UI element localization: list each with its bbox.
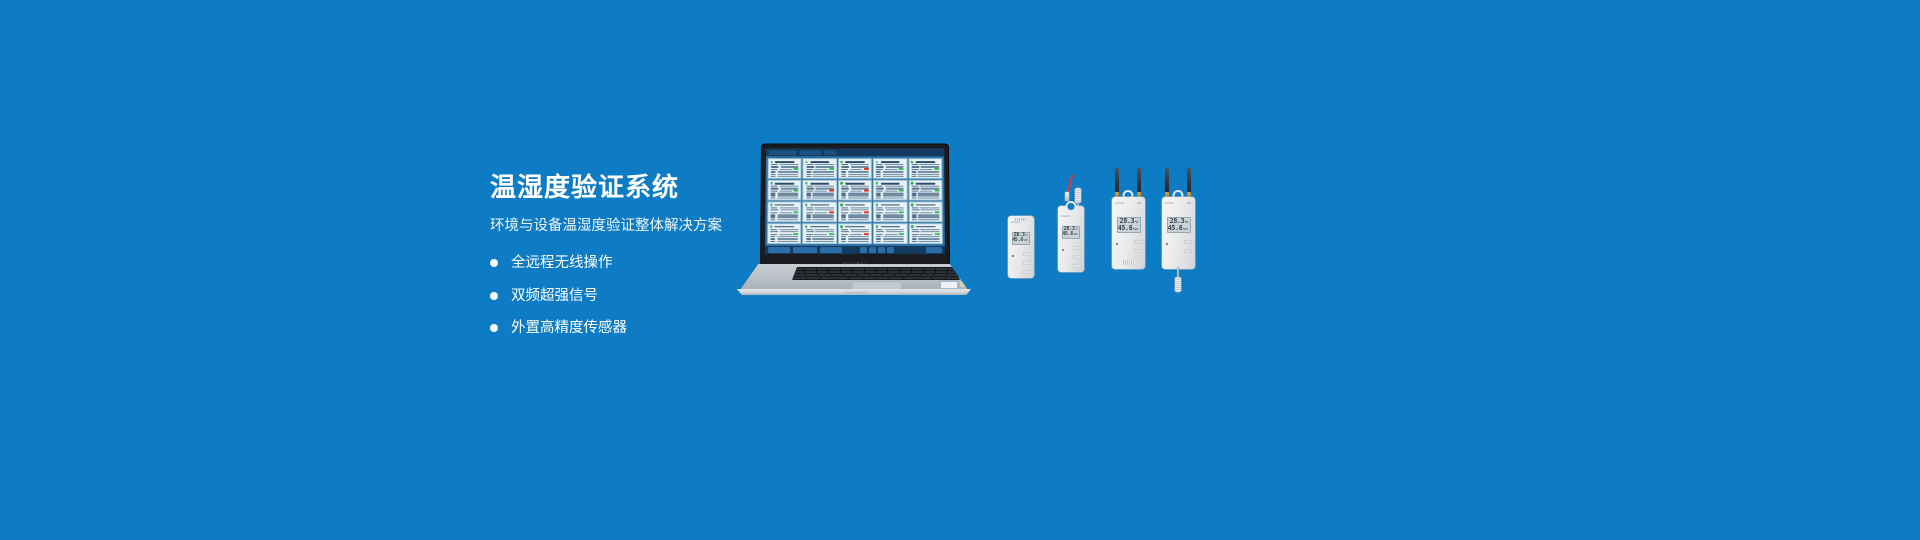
keyboard-key[interactable] bbox=[863, 277, 876, 280]
sensor-field-label bbox=[806, 166, 814, 167]
sensor-field-value bbox=[848, 193, 869, 194]
sensor-card-row bbox=[876, 238, 904, 239]
sensor-field-label bbox=[841, 193, 846, 194]
sensor-card-row bbox=[912, 207, 940, 208]
lcd-temperature-unit: ℃ bbox=[1185, 221, 1188, 224]
sensor-card-row bbox=[771, 229, 799, 230]
sensor-field-value bbox=[779, 229, 798, 230]
sensor-card-title bbox=[845, 161, 864, 163]
sensor-field-label bbox=[841, 219, 846, 220]
sensor-field-label bbox=[771, 186, 778, 187]
sensor-card-title bbox=[881, 226, 900, 228]
sensor-field-value bbox=[815, 231, 833, 232]
sensor-field-label bbox=[912, 234, 919, 235]
sensor-field-value bbox=[848, 219, 869, 220]
device-button-up[interactable] bbox=[1073, 246, 1081, 250]
sensor-card-row bbox=[771, 212, 799, 214]
device-logger-dual-antenna: ENGIN HB 28.3 ℃ 45.6 %RH bbox=[1112, 192, 1145, 269]
keyboard-key[interactable] bbox=[877, 277, 890, 280]
sensor-card-row bbox=[770, 236, 798, 237]
sensor-field-value bbox=[850, 207, 869, 208]
sensor-card-row bbox=[770, 233, 798, 235]
keyboard-key[interactable] bbox=[853, 271, 864, 274]
device-button-down[interactable] bbox=[1134, 249, 1142, 253]
sensor-field-label bbox=[876, 164, 883, 165]
sensor-field-label bbox=[806, 212, 813, 213]
sensor-card[interactable] bbox=[838, 223, 872, 244]
sensor-card-row bbox=[841, 193, 869, 194]
sensor-field-label bbox=[841, 173, 846, 174]
sensor-card-row bbox=[806, 229, 834, 230]
sensor-field-value bbox=[814, 169, 827, 170]
sensor-field-label bbox=[911, 176, 916, 177]
sensor-card-row bbox=[912, 231, 940, 232]
sensor-card-row bbox=[806, 238, 834, 239]
sensor-card-row bbox=[841, 236, 869, 237]
sensor-field-value bbox=[918, 219, 939, 220]
device-button-up[interactable] bbox=[1023, 252, 1031, 256]
sensor-field-value bbox=[777, 193, 798, 194]
sensor-card[interactable] bbox=[803, 201, 837, 222]
sensor-field-value bbox=[812, 215, 833, 216]
sensor-card-row bbox=[806, 241, 834, 242]
keyboard-key[interactable] bbox=[870, 274, 882, 277]
sensor-field-label bbox=[841, 171, 846, 172]
sensor-card-row bbox=[876, 193, 904, 194]
page-button[interactable] bbox=[860, 247, 867, 253]
sensor-ok-badge bbox=[793, 233, 798, 235]
sensor-card[interactable] bbox=[767, 223, 801, 244]
sensor-field-label bbox=[806, 188, 814, 189]
sensor-field-label bbox=[911, 169, 918, 170]
sensor-field-label bbox=[770, 241, 775, 242]
keyboard-key[interactable] bbox=[900, 268, 911, 271]
keyboard-key[interactable] bbox=[865, 268, 876, 271]
sensor-card-row bbox=[911, 193, 939, 194]
sensor-field-value bbox=[812, 236, 833, 237]
sensor-card[interactable] bbox=[803, 180, 837, 201]
sensor-field-value bbox=[918, 215, 939, 216]
sensor-card[interactable] bbox=[873, 158, 907, 179]
keyboard-key[interactable] bbox=[841, 271, 852, 274]
sensor-field-label bbox=[806, 190, 813, 191]
sensor-ok-badge bbox=[899, 212, 904, 214]
keyboard-key[interactable] bbox=[912, 268, 923, 271]
sensor-card[interactable] bbox=[873, 180, 907, 201]
sensor-card-row bbox=[911, 176, 939, 177]
device-button-up[interactable] bbox=[1184, 240, 1192, 244]
sensor-card-row bbox=[911, 166, 939, 167]
keyboard-key[interactable] bbox=[817, 268, 828, 271]
sensor-alarm-badge bbox=[829, 212, 834, 214]
sensor-field-label bbox=[771, 219, 776, 220]
sensor-field-value bbox=[883, 219, 904, 220]
sensor-card[interactable] bbox=[908, 201, 942, 222]
sensor-card-row bbox=[771, 193, 799, 194]
sensor-ok-badge bbox=[899, 233, 904, 235]
sensor-card-row bbox=[841, 168, 869, 170]
sensor-card-row bbox=[806, 231, 834, 232]
sensor-card-row bbox=[771, 166, 799, 167]
keyboard-key[interactable] bbox=[817, 271, 828, 274]
keyboard-key[interactable] bbox=[918, 277, 931, 280]
sensor-field-label bbox=[911, 190, 918, 191]
sensor-field-value bbox=[851, 209, 869, 210]
lcd-humidity-unit: %RH bbox=[1133, 228, 1138, 231]
antenna-left-icon bbox=[1165, 168, 1169, 194]
keyboard-key[interactable] bbox=[924, 271, 935, 274]
sensor-field-label bbox=[771, 176, 776, 177]
bullet-dot-icon bbox=[490, 292, 498, 300]
sensor-card-row bbox=[841, 215, 869, 216]
sensor-field-label bbox=[806, 197, 811, 198]
keyboard-key[interactable] bbox=[936, 268, 947, 271]
sensor-alarm-badge bbox=[829, 190, 834, 192]
keyboard-key[interactable] bbox=[793, 271, 804, 274]
sensor-field-label bbox=[771, 173, 776, 174]
keyboard-key[interactable] bbox=[793, 277, 806, 280]
sensor-field-value bbox=[885, 190, 898, 191]
sensor-field-label bbox=[771, 193, 776, 194]
lcd-humidity-row: 45.6 %RH bbox=[1015, 238, 1028, 243]
sensor-field-label bbox=[841, 190, 848, 191]
sensor-card-title bbox=[916, 183, 935, 185]
sensor-field-value bbox=[883, 236, 904, 237]
sensor-card-row bbox=[806, 188, 834, 189]
keyboard-key[interactable] bbox=[876, 271, 887, 274]
laptop-base bbox=[718, 264, 990, 300]
sensor-field-label bbox=[876, 229, 883, 230]
sensor-field-value bbox=[883, 171, 904, 172]
keyboard-key[interactable] bbox=[806, 274, 818, 277]
keyboard[interactable] bbox=[792, 267, 960, 280]
device-brand: ENGIN bbox=[1165, 202, 1174, 205]
sensor-card-row bbox=[876, 241, 904, 242]
sensor-field-label bbox=[841, 169, 848, 170]
keyboard-key[interactable] bbox=[853, 268, 864, 271]
bullet-dot-icon bbox=[490, 259, 498, 267]
sensor-card-row bbox=[806, 190, 834, 192]
laptop-open-notch bbox=[844, 292, 866, 294]
sensor-field-value bbox=[779, 169, 792, 170]
sensor-card-row bbox=[771, 195, 799, 196]
sensor-field-label bbox=[876, 215, 881, 216]
sensor-field-value bbox=[918, 236, 939, 237]
sensor-ok-badge bbox=[899, 190, 904, 192]
page-button[interactable] bbox=[887, 247, 894, 253]
sensor-field-value bbox=[883, 197, 904, 198]
sensor-card-title bbox=[880, 161, 899, 163]
toolbar-button[interactable] bbox=[768, 247, 790, 253]
sensor-card-row bbox=[911, 188, 939, 189]
sensor-card[interactable] bbox=[768, 158, 802, 179]
sensor-field-value bbox=[780, 209, 798, 210]
sensor-field-value bbox=[848, 173, 869, 174]
sensor-card-title bbox=[916, 161, 935, 163]
sensor-card-row bbox=[876, 215, 904, 216]
sensor-card[interactable] bbox=[802, 223, 836, 244]
device-brand: ENGIN bbox=[1011, 221, 1020, 224]
keyboard-key[interactable] bbox=[832, 274, 844, 277]
keyboard-key[interactable] bbox=[819, 274, 831, 277]
feature-label: 全远程无线操作 bbox=[511, 256, 613, 271]
sensor-card-row bbox=[771, 207, 799, 208]
sensor-card-row bbox=[876, 236, 904, 237]
keyboard-key[interactable] bbox=[888, 271, 899, 274]
sensor-field-value bbox=[848, 238, 869, 239]
keyboard-key[interactable] bbox=[793, 268, 804, 271]
keyboard-key[interactable] bbox=[921, 274, 933, 277]
sensor-card-row bbox=[806, 236, 834, 237]
sensor-card-title bbox=[916, 226, 935, 228]
sensor-card[interactable] bbox=[768, 180, 802, 201]
sensor-field-label bbox=[912, 217, 917, 218]
sensor-field-label bbox=[912, 236, 917, 237]
device-button-set[interactable] bbox=[1073, 264, 1081, 268]
device-button-down[interactable] bbox=[1023, 261, 1031, 265]
sensor-field-label bbox=[771, 234, 778, 235]
sensor-card-row bbox=[876, 168, 904, 170]
sensor-field-value bbox=[920, 234, 933, 235]
keyboard-key[interactable] bbox=[805, 268, 816, 271]
sensor-field-value bbox=[885, 207, 904, 208]
trackpad[interactable] bbox=[852, 281, 902, 290]
keyboard-key[interactable] bbox=[857, 274, 869, 277]
sensor-field-label bbox=[771, 215, 776, 216]
sensor-field-value bbox=[814, 212, 827, 213]
sensor-field-label bbox=[876, 186, 883, 187]
keyboard-key[interactable] bbox=[805, 271, 816, 274]
sensor-card-row bbox=[876, 229, 904, 230]
sensor-status-led-icon bbox=[875, 161, 877, 163]
sensor-field-value bbox=[777, 236, 798, 237]
keyboard-key[interactable] bbox=[829, 271, 840, 274]
keyboard-key[interactable] bbox=[947, 274, 959, 277]
sensor-card-row bbox=[912, 233, 940, 235]
sensor-card-row bbox=[841, 173, 869, 174]
sensor-card[interactable] bbox=[838, 158, 872, 179]
keyboard-key[interactable] bbox=[904, 277, 917, 280]
sensor-field-label bbox=[806, 171, 811, 172]
promo-banner: 温湿度验证系统 环境与设备温湿度验证整体解决方案 全远程无线操作 双频超强信号 … bbox=[0, 0, 1920, 540]
hanger-hole-icon bbox=[1068, 203, 1075, 210]
sensor-field-value bbox=[918, 171, 939, 172]
device-button-down[interactable] bbox=[1184, 249, 1192, 253]
sensor-field-value bbox=[777, 238, 798, 239]
sensor-field-value bbox=[883, 195, 904, 196]
sensor-card[interactable] bbox=[838, 180, 872, 201]
keyboard-key[interactable] bbox=[793, 274, 805, 277]
sensor-card[interactable] bbox=[908, 158, 942, 179]
sensor-ok-badge bbox=[934, 190, 939, 192]
keyboard-key[interactable] bbox=[948, 271, 959, 274]
sensor-field-label bbox=[806, 215, 811, 216]
sensor-field-label bbox=[876, 236, 881, 237]
lcd-temperature-unit: ℃ bbox=[1025, 235, 1027, 237]
menu-item[interactable] bbox=[769, 150, 797, 155]
sensor-field-label bbox=[912, 229, 919, 230]
lcd-humidity-row: 45.6 %RH bbox=[1169, 225, 1188, 232]
sensor-card-row bbox=[806, 219, 834, 220]
sensor-field-value bbox=[851, 166, 869, 167]
menu-item[interactable] bbox=[824, 150, 836, 155]
sensor-field-value bbox=[850, 190, 863, 191]
sensor-field-label bbox=[806, 176, 811, 177]
sensor-field-value bbox=[812, 219, 833, 220]
probe-connector bbox=[1065, 192, 1069, 201]
keyboard-key[interactable] bbox=[934, 274, 946, 277]
sensor-card-row bbox=[806, 193, 834, 194]
vent-grille-icon bbox=[1123, 260, 1135, 265]
keyboard-key[interactable] bbox=[821, 277, 834, 280]
sensor-ok-badge bbox=[934, 233, 939, 235]
sensor-field-label bbox=[911, 193, 916, 194]
sensor-card-row bbox=[841, 231, 869, 232]
sensor-card-row bbox=[806, 195, 834, 196]
device-button-up[interactable] bbox=[1134, 240, 1142, 244]
sensor-card-title bbox=[775, 204, 794, 206]
keyboard-key[interactable] bbox=[932, 277, 945, 280]
sensor-ok-badge bbox=[829, 233, 834, 235]
keyboard-key[interactable] bbox=[909, 274, 921, 277]
sensor-card[interactable] bbox=[767, 201, 801, 222]
toolbar-button-right[interactable] bbox=[926, 247, 942, 253]
sensor-field-label bbox=[841, 188, 849, 189]
keyboard-key[interactable] bbox=[936, 271, 947, 274]
sensor-status-led-icon bbox=[876, 182, 878, 184]
keyboard-key[interactable] bbox=[865, 271, 876, 274]
sensor-field-value bbox=[777, 215, 798, 216]
sensor-card[interactable] bbox=[838, 201, 872, 222]
sensor-card[interactable] bbox=[873, 223, 907, 244]
sensor-card-row bbox=[912, 236, 940, 237]
sensor-card-row bbox=[876, 209, 904, 210]
sensor-card-row bbox=[770, 238, 798, 239]
keyboard-key[interactable] bbox=[807, 277, 820, 280]
sensor-field-value bbox=[886, 231, 904, 232]
sensor-status-led-icon bbox=[911, 161, 913, 163]
sensor-field-label bbox=[912, 207, 919, 208]
sensor-alarm-badge bbox=[864, 212, 869, 214]
sensor-field-value bbox=[850, 186, 869, 187]
sensor-card-row bbox=[841, 197, 869, 198]
sensor-status-led-icon bbox=[876, 225, 878, 227]
sensor-field-label bbox=[841, 209, 849, 210]
keyboard-key[interactable] bbox=[896, 274, 908, 277]
page-button[interactable] bbox=[869, 247, 876, 253]
sensor-card-row bbox=[912, 212, 940, 214]
sensor-field-value bbox=[813, 171, 834, 172]
sensor-field-label bbox=[876, 234, 883, 235]
keyboard-key[interactable] bbox=[890, 277, 903, 280]
keyboard-key[interactable] bbox=[900, 271, 911, 274]
monitoring-app bbox=[765, 148, 945, 254]
sensor-card-row bbox=[912, 238, 940, 239]
keyboard-key[interactable] bbox=[829, 268, 840, 271]
keyboard-key[interactable] bbox=[924, 268, 935, 271]
sensor-field-label bbox=[841, 231, 849, 232]
sensor-field-label bbox=[876, 231, 884, 232]
sensor-card[interactable] bbox=[873, 201, 907, 222]
page-button[interactable] bbox=[878, 247, 885, 253]
sensor-card-row bbox=[911, 171, 939, 172]
sensor-card-row bbox=[912, 241, 940, 242]
antenna-left-icon bbox=[1115, 168, 1119, 194]
sensor-card[interactable] bbox=[803, 158, 837, 179]
device-button-set[interactable] bbox=[1023, 270, 1031, 274]
sensor-field-value bbox=[918, 176, 939, 177]
sensor-card-row bbox=[841, 164, 869, 165]
sensor-card-row bbox=[912, 215, 940, 216]
sensor-card-title bbox=[845, 226, 864, 228]
pagination[interactable] bbox=[860, 247, 894, 253]
sensor-card-row bbox=[911, 164, 939, 165]
sensor-field-value bbox=[815, 209, 833, 210]
sensor-field-value bbox=[851, 188, 869, 189]
keyboard-row bbox=[793, 271, 959, 274]
sensor-card[interactable] bbox=[908, 223, 942, 244]
sensor-card-title bbox=[845, 204, 864, 206]
sensor-field-value bbox=[848, 215, 869, 216]
sensor-field-value bbox=[780, 231, 798, 232]
bullet-dot-icon bbox=[490, 324, 498, 332]
sensor-card-row bbox=[806, 207, 834, 208]
device-button-down[interactable] bbox=[1073, 255, 1081, 259]
keyboard-key[interactable] bbox=[888, 268, 899, 271]
sensor-field-label bbox=[806, 231, 814, 232]
sensor-field-label bbox=[806, 229, 813, 230]
laptop-illustration: HUAWEI bbox=[718, 142, 990, 297]
sensor-field-value bbox=[814, 229, 833, 230]
menu-item[interactable] bbox=[800, 150, 822, 155]
sensor-field-label bbox=[876, 197, 881, 198]
sensor-field-value bbox=[779, 164, 798, 165]
keyboard-key[interactable] bbox=[946, 277, 959, 280]
sensor-field-value bbox=[850, 229, 869, 230]
keyboard-key[interactable] bbox=[883, 274, 895, 277]
sensor-card-row bbox=[876, 233, 904, 235]
sensor-field-label bbox=[841, 217, 846, 218]
sensor-field-label bbox=[876, 190, 883, 191]
sensor-field-value bbox=[918, 217, 939, 218]
keyboard-key[interactable] bbox=[912, 271, 923, 274]
sensor-card[interactable] bbox=[908, 180, 942, 201]
keyboard-key[interactable] bbox=[948, 268, 959, 271]
sensor-field-label bbox=[912, 212, 919, 213]
keyboard-key[interactable] bbox=[876, 268, 887, 271]
sensor-field-label bbox=[876, 209, 884, 210]
sensor-field-value bbox=[885, 164, 904, 165]
sensor-card-row bbox=[841, 233, 869, 235]
toolbar-button[interactable] bbox=[793, 247, 817, 253]
keyboard-key[interactable] bbox=[835, 277, 848, 280]
toolbar-button[interactable] bbox=[820, 247, 842, 253]
sensor-card-grid bbox=[765, 156, 945, 246]
sensor-field-label bbox=[806, 236, 811, 237]
sensor-card-row bbox=[771, 209, 799, 210]
sensor-field-label bbox=[911, 186, 918, 187]
sensor-card-row bbox=[806, 233, 834, 235]
sensor-field-value bbox=[850, 169, 863, 170]
sensor-card-row bbox=[841, 166, 869, 167]
sensor-field-value bbox=[921, 209, 939, 210]
list-item: 外置高精度传感器 bbox=[490, 321, 820, 336]
keyboard-key[interactable] bbox=[841, 268, 852, 271]
keyboard-row bbox=[793, 268, 959, 271]
keyboard-key[interactable] bbox=[849, 277, 862, 280]
keyboard-key[interactable] bbox=[844, 274, 856, 277]
sensor-card-row bbox=[806, 171, 834, 172]
